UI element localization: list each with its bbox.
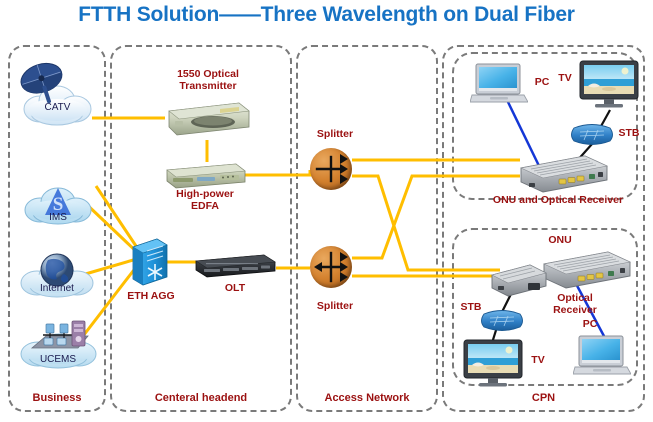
eth-agg-device [130,237,170,292]
management-server-icon [32,321,88,348]
edfa-label: High-power EDFA [155,188,255,212]
eth-agg-label: ETH AGG [112,290,190,302]
splitter-lower-label: Splitter [300,300,370,312]
optical-receiver-label-line1: Optical [530,292,620,304]
edfa-label-line1: High-power [155,188,255,200]
cloud-label-ims: IMS [22,212,94,223]
cloud-ucems: UCEMS [18,318,98,370]
optical-transmitter-device [165,97,251,146]
tv-lower [462,338,524,395]
optical-transmitter-label: 1550 Optical Transmitter [150,68,266,92]
section-label-access: Access Network [296,392,438,404]
tv-upper [578,59,640,116]
section-label-headend: Centeral headend [110,392,292,404]
optical-receiver-label-lower: Optical Receiver [530,292,620,316]
optical-receiver-label-line2: Receiver [530,304,620,316]
pc-label-upper: PC [530,76,554,88]
pc-label-lower: PC [578,318,602,330]
stb-upper [568,122,616,153]
globe-icon [41,254,73,286]
pc-laptop-lower [573,334,631,383]
edfa-label-line2: EDFA [155,200,255,212]
cloud-ims: S IMS [22,182,94,228]
onu-label-upper: ONU and Optical Receiver [468,194,648,206]
olt-device [194,252,278,283]
cloud-label-internet: Internet [18,283,96,294]
section-label-cpn: CPN [442,392,645,404]
onu-lower [538,248,634,295]
optical-transmitter-label-line2: Transmitter [150,80,266,92]
tv-label-lower: TV [526,354,550,366]
section-label-business: Business [8,392,106,404]
cloud-label-ucems: UCEMS [18,354,98,365]
onu-optical-receiver-upper [515,152,611,199]
cloud-internet: Internet [18,250,96,300]
onu-label-lower: ONU [530,234,590,246]
splitter-upper-device [310,148,352,190]
splitter-lower-device [310,246,352,288]
stb-lower [478,308,526,339]
ftth-diagram: FTTH Solution——Three Wavelength on Dual … [0,0,653,422]
tv-label-upper: TV [553,72,577,84]
splitter-upper-label: Splitter [300,128,370,140]
stb-label-upper: STB [614,127,644,139]
optical-transmitter-label-line1: 1550 Optical [150,68,266,80]
satellite-dish-icon [17,58,69,113]
pc-laptop-upper [470,62,528,111]
olt-label: OLT [205,282,265,294]
